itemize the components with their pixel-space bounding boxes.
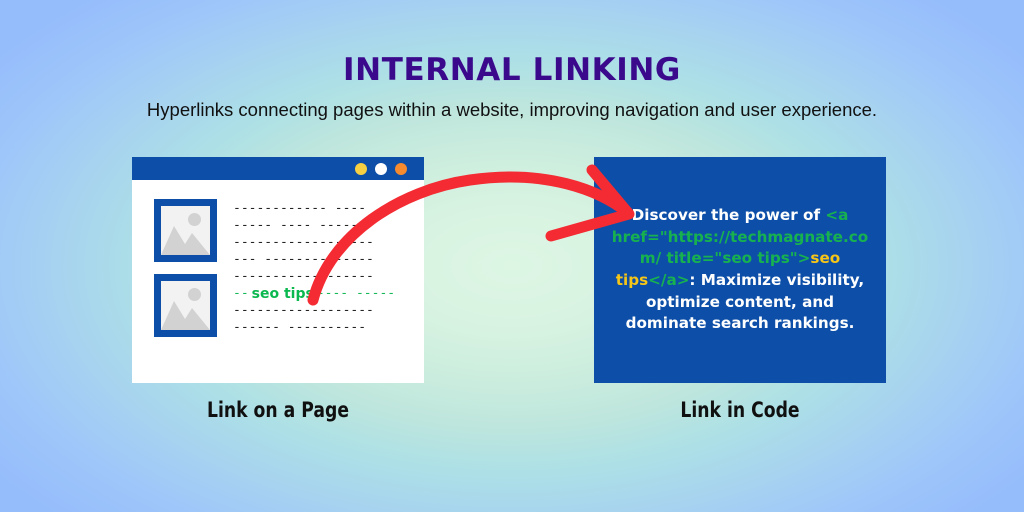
link-line-suffix: ---- ----- (317, 286, 395, 301)
white-dot-icon (375, 163, 387, 175)
text-line: ------------------ (233, 234, 410, 251)
seo-tips-link[interactable]: seo tips (249, 286, 317, 302)
code-segment-intro: Discover the power of (632, 206, 826, 224)
text-line: ------------------ (233, 268, 410, 285)
link-line-prefix: -- (233, 286, 249, 301)
image-placeholder-icon (154, 274, 217, 337)
page-subtitle: Hyperlinks connecting pages within a web… (0, 99, 1024, 121)
yellow-dot-icon (355, 163, 367, 175)
text-line: ------------ ---- (233, 200, 410, 217)
text-line: ----- ---- ------ (233, 217, 410, 234)
browser-window-mockup: ------------ ---- ----- ---- ------ ----… (132, 157, 424, 383)
code-panel: Discover the power of <a href="https://t… (594, 157, 886, 383)
image-placeholder-icon (154, 199, 217, 262)
text-line: --- -------------- (233, 251, 410, 268)
orange-dot-icon (395, 163, 407, 175)
text-line: ------------------ (233, 302, 410, 319)
thumbnail-column (154, 194, 217, 337)
code-snippet-text: Discover the power of <a href="https://t… (610, 205, 870, 334)
caption-link-on-a-page: Link on a Page (158, 398, 397, 422)
text-lines-column: ------------ ---- ----- ---- ------ ----… (233, 194, 410, 337)
text-line-with-link: -- seo tips ---- ----- (233, 285, 410, 302)
page-title: INTERNAL LINKING (0, 52, 1024, 88)
browser-content-area: ------------ ---- ----- ---- ------ ----… (132, 180, 424, 347)
text-line: ------ ---------- (233, 319, 410, 336)
code-segment-anchor-close: </a> (648, 271, 689, 289)
caption-link-in-code: Link in Code (620, 398, 859, 422)
browser-title-bar (132, 157, 424, 180)
